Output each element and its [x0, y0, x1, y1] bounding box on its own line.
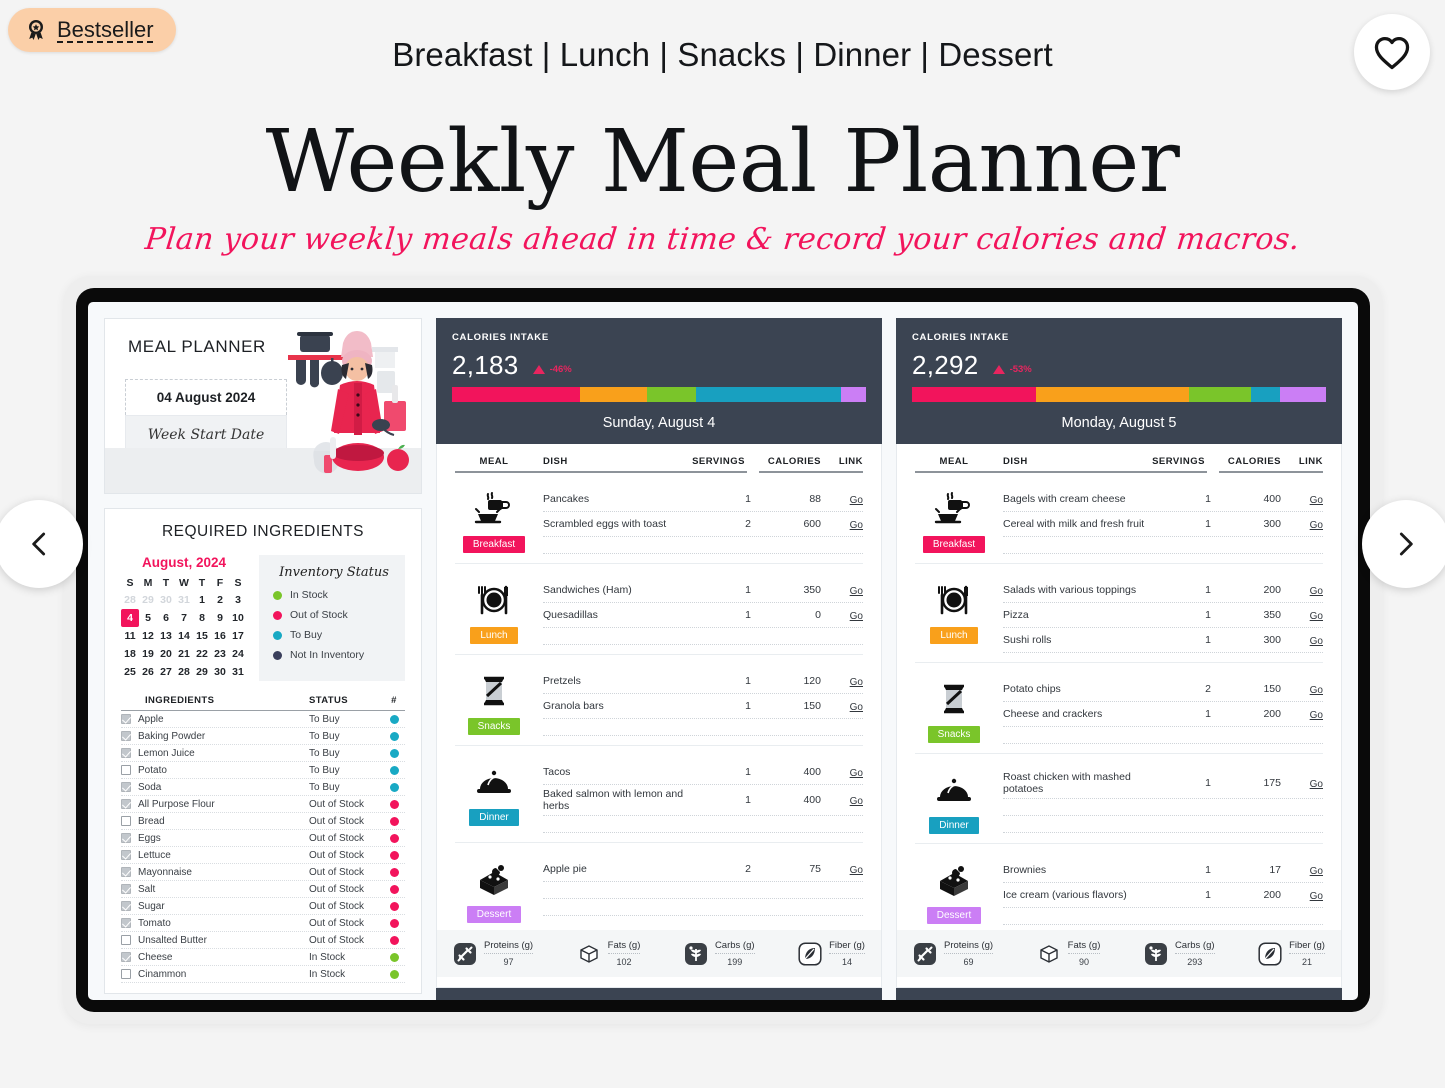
ingredient-name: Sugar	[138, 901, 165, 912]
col-ingredients: INGREDIENTS	[121, 695, 309, 706]
coffee-cup-icon	[474, 487, 514, 531]
ingredient-row: Bread Out of Stock	[121, 813, 405, 830]
dish-row[interactable]	[1003, 816, 1323, 833]
triangle-up-icon	[993, 365, 1005, 374]
inventory-legend: In Stock Out of Stock To Buy Not In Inve…	[273, 589, 395, 661]
dish-servings: 2	[685, 863, 751, 875]
dish-calories: 88	[765, 493, 821, 505]
dish-servings: 1	[1145, 584, 1211, 596]
calendar-day[interactable]: 7	[175, 609, 193, 627]
dish-row[interactable]	[543, 882, 863, 899]
dish-calories: 350	[765, 584, 821, 596]
ingredient-checkbox[interactable]	[121, 901, 131, 911]
dish-link-cell[interactable]: Go	[1281, 606, 1323, 624]
page-title: Weekly Meal Planner	[0, 112, 1445, 212]
meal-tag: Dessert	[927, 907, 981, 924]
calendar-day[interactable]: 22	[193, 645, 211, 663]
dish-link-cell[interactable]: Go	[821, 697, 863, 715]
dish-link-cell[interactable]: Go	[821, 515, 863, 533]
calendar-day[interactable]: 16	[211, 627, 229, 645]
dish-link-cell[interactable]: Go	[821, 763, 863, 781]
dish-calories: 200	[1225, 889, 1281, 901]
meal-tag: Snacks	[928, 726, 981, 743]
day-body: MEAL DISH SERVINGS CALORIES LINK Breakfa…	[436, 444, 882, 988]
status-dot-icon	[390, 749, 399, 758]
ingredient-checkbox[interactable]	[121, 731, 131, 741]
macro-value: 90	[1068, 957, 1101, 967]
calendar-day[interactable]: 31	[175, 591, 193, 609]
calendar-day[interactable]: 28	[175, 663, 193, 681]
calendar-day[interactable]: 17	[229, 627, 247, 645]
calendar-day[interactable]: 2	[211, 591, 229, 609]
col-servings: SERVINGS	[669, 456, 745, 467]
calendar-day[interactable]: 24	[229, 645, 247, 663]
dish-row[interactable]: Baked salmon with lemon and herbs 1 400 …	[543, 785, 863, 816]
calendar-weekday: T	[193, 575, 211, 591]
dish-row[interactable]: Granola bars 1 150 Go	[543, 694, 863, 719]
dish-servings: 1	[1145, 518, 1211, 530]
meal-block: Lunch Salads with various toppings 1 200…	[915, 564, 1323, 653]
dish-link-cell[interactable]: Go	[1281, 490, 1323, 508]
day-panels: CALORIES INTAKE 2,183 -46% Sunday, Augus…	[436, 318, 1342, 1000]
dish-row[interactable]: Pizza 1 350 Go	[1003, 603, 1323, 628]
calendar-days[interactable]: 2829303112345678910111213141516171819202…	[121, 591, 247, 681]
meal-tag: Dessert	[467, 906, 521, 923]
status-dot-icon	[390, 715, 399, 724]
status-dot-icon	[390, 885, 399, 894]
dish-name: Brownies	[1003, 864, 1145, 876]
macro-fats: Fats (g) 90	[1037, 940, 1101, 967]
required-ingredients-card: REQUIRED INGREDIENTS August, 2024 SMTWTF…	[104, 508, 422, 994]
dish-name: Ice cream (various flavors)	[1003, 889, 1145, 901]
dish-link[interactable]: Go	[850, 865, 863, 876]
dish-link-cell[interactable]: Go	[821, 672, 863, 690]
macro-summary: Proteins (g) 69 Fats (g) 90 Carbs (g	[897, 930, 1341, 977]
calendar-day[interactable]: 4	[121, 609, 139, 627]
dish-link-cell[interactable]: Go	[1281, 861, 1323, 879]
calendar-day[interactable]: 14	[175, 627, 193, 645]
dish-row[interactable]: Cereal with milk and fresh fruit 1 300 G…	[1003, 512, 1323, 537]
dish-row[interactable]: Quesadillas 1 0 Go	[543, 603, 863, 628]
dish-link-cell[interactable]: Go	[1281, 515, 1323, 533]
dish-row[interactable]: Scrambled eggs with toast 2 600 Go	[543, 512, 863, 537]
calendar-day[interactable]: 1	[193, 591, 211, 609]
calendar-weekday: T	[157, 575, 175, 591]
dish-row[interactable]: Cheese and crackers 1 200 Go	[1003, 702, 1323, 727]
ingredient-name: Apple	[138, 714, 164, 725]
calendar-day[interactable]: 20	[157, 645, 175, 663]
meal-block: Dinner Tacos 1 400 Go Baked salmon	[455, 746, 863, 833]
ingredient-row: Potato To Buy	[121, 762, 405, 779]
inventory-legend-label: Out of Stock	[290, 609, 348, 621]
inventory-legend-label: Not In Inventory	[290, 649, 364, 661]
ingredient-checkbox[interactable]	[121, 935, 131, 945]
day-footer-bar	[896, 988, 1342, 1000]
dish-link-cell[interactable]: Go	[1281, 581, 1323, 599]
calendar-day[interactable]: 11	[121, 627, 139, 645]
carbs-icon	[684, 942, 708, 966]
meal-block: Breakfast Pancakes 1 88 Go Scramble	[455, 473, 863, 554]
week-start-box: 04 August 2024 Week Start Date	[125, 379, 249, 455]
dish-row[interactable]	[1003, 799, 1323, 816]
calendar-day[interactable]: 29	[139, 591, 157, 609]
day-panel: CALORIES INTAKE 2,292 -53% Monday, Augus…	[896, 318, 1342, 1000]
calendar-day[interactable]: 9	[211, 609, 229, 627]
dish-row[interactable]	[543, 899, 863, 916]
dish-link[interactable]: Go	[1310, 520, 1323, 531]
ingredient-row: Soda To Buy	[121, 779, 405, 796]
meal-tag: Lunch	[470, 627, 517, 644]
macro-label: Fats (g)	[608, 940, 641, 954]
ingredient-checkbox[interactable]	[121, 816, 131, 826]
inventory-legend-item: To Buy	[273, 629, 395, 641]
col-status: STATUS	[309, 695, 383, 706]
status-dot-icon	[390, 919, 399, 928]
col-dish: DISH	[993, 456, 1129, 467]
dish-name: Pretzels	[543, 675, 685, 687]
dish-row[interactable]	[1003, 727, 1323, 744]
dish-row[interactable]	[543, 537, 863, 554]
dish-link[interactable]: Go	[1310, 685, 1323, 696]
macro-distribution-bar	[452, 387, 866, 402]
meal-tag: Lunch	[930, 627, 977, 644]
calendar-day[interactable]: 12	[139, 627, 157, 645]
macro-bar-segment	[452, 387, 580, 402]
col-meal: MEAL	[455, 456, 533, 467]
day-footer-bar	[436, 988, 882, 1000]
dish-row[interactable]	[543, 816, 863, 833]
status-dot-icon	[273, 611, 282, 620]
dish-link[interactable]: Go	[850, 796, 863, 807]
dish-link-cell[interactable]: Go	[1281, 886, 1323, 904]
ingredient-name: Unsalted Butter	[138, 935, 207, 946]
dish-link-cell[interactable]: Go	[821, 490, 863, 508]
col-hash: #	[383, 695, 405, 706]
dish-calories: 350	[1225, 609, 1281, 621]
inventory-status-title: Inventory Status	[273, 565, 395, 580]
ingredients-table-header: INGREDIENTS STATUS #	[121, 695, 405, 711]
calendar: August, 2024 SMTWTFS 2829303112345678910…	[121, 555, 247, 681]
meal-tag: Dinner	[469, 809, 518, 826]
dish-link-cell[interactable]: Go	[1281, 774, 1323, 792]
dish-link[interactable]: Go	[850, 586, 863, 597]
dish-link[interactable]: Go	[850, 768, 863, 779]
calendar-day[interactable]: 18	[121, 645, 139, 663]
dish-row[interactable]	[543, 719, 863, 736]
dish-servings: 1	[1145, 889, 1211, 901]
dish-link[interactable]: Go	[850, 677, 863, 688]
dish-name: Bagels with cream cheese	[1003, 493, 1145, 505]
dish-calories: 120	[765, 675, 821, 687]
dish-servings: 1	[1145, 708, 1211, 720]
table-rule	[455, 471, 863, 473]
carbs-icon	[1144, 942, 1168, 966]
ingredient-checkbox[interactable]	[121, 884, 131, 894]
dish-row[interactable]: Potato chips 2 150 Go	[1003, 677, 1323, 702]
ingredient-checkbox[interactable]	[121, 714, 131, 724]
calendar-day[interactable]: 27	[157, 663, 175, 681]
dish-calories: 300	[1225, 634, 1281, 646]
dish-link-cell[interactable]: Go	[821, 860, 863, 878]
macro-bar-segment	[696, 387, 841, 402]
status-dot-icon	[273, 631, 282, 640]
carousel-next-button[interactable]	[1362, 500, 1445, 588]
ingredient-status: To Buy	[309, 731, 383, 742]
dish-link[interactable]: Go	[1310, 710, 1323, 721]
dish-link-cell[interactable]: Go	[821, 606, 863, 624]
calendar-day[interactable]: 3	[229, 591, 247, 609]
calories-intake-label: CALORIES INTAKE	[452, 332, 866, 343]
tablet-bezel: MEAL PLANNER 04 August 2024 Week Start D…	[76, 288, 1370, 1012]
ingredient-status: Out of Stock	[309, 833, 383, 844]
calendar-day[interactable]: 29	[193, 663, 211, 681]
dish-row[interactable]: Pretzels 1 120 Go	[543, 669, 863, 694]
status-dot-icon	[390, 902, 399, 911]
ingredient-name: Cinammon	[138, 969, 186, 980]
dish-servings: 1	[685, 700, 751, 712]
calendar-grid[interactable]: SMTWTFS 28293031123456789101112131415161…	[121, 575, 247, 681]
ingredient-row: Sugar Out of Stock	[121, 898, 405, 915]
dish-name: Pancakes	[543, 493, 685, 505]
ingredient-checkbox[interactable]	[121, 748, 131, 758]
dish-servings: 1	[685, 609, 751, 621]
ingredient-name: All Purpose Flour	[138, 799, 215, 810]
status-dot-icon	[390, 800, 399, 809]
macro-bar-segment	[1280, 387, 1326, 402]
calendar-day[interactable]: 6	[157, 609, 175, 627]
status-dot-icon	[390, 766, 399, 775]
dish-calories: 200	[1225, 708, 1281, 720]
ingredient-name: Cheese	[138, 952, 172, 963]
dish-link[interactable]: Go	[850, 520, 863, 531]
fats-icon	[577, 942, 601, 966]
macro-distribution-bar	[912, 387, 1326, 402]
calendar-day[interactable]: 8	[193, 609, 211, 627]
status-dot-icon	[390, 936, 399, 945]
calendar-day[interactable]: 30	[157, 591, 175, 609]
calendar-day[interactable]: 30	[211, 663, 229, 681]
ingredient-status: Out of Stock	[309, 867, 383, 878]
macro-summary: Proteins (g) 97 Fats (g) 102 Carbs (	[437, 930, 881, 977]
ingredient-checkbox[interactable]	[121, 850, 131, 860]
dish-name: Quesadillas	[543, 609, 685, 621]
ingredient-checkbox[interactable]	[121, 918, 131, 928]
dish-link-cell[interactable]: Go	[1281, 631, 1323, 649]
ingredient-checkbox[interactable]	[121, 782, 131, 792]
dish-row[interactable]	[543, 628, 863, 645]
dish-servings: 1	[685, 766, 751, 778]
dish-link-cell[interactable]: Go	[821, 581, 863, 599]
dish-link[interactable]: Go	[850, 495, 863, 506]
calendar-weekday: F	[211, 575, 229, 591]
macro-carbs: Carbs (g) 293	[1144, 940, 1215, 967]
ingredient-row: Lettuce Out of Stock	[121, 847, 405, 864]
calendar-week-row: 18192021222324	[121, 645, 247, 663]
calendar-day[interactable]: 13	[157, 627, 175, 645]
dish-calories: 0	[765, 609, 821, 621]
dish-row[interactable]: Bagels with cream cheese 1 400 Go	[1003, 487, 1323, 512]
calendar-day[interactable]: 23	[211, 645, 229, 663]
macro-fiber: Fiber (g) 21	[1258, 940, 1325, 967]
ingredient-row: Salt Out of Stock	[121, 881, 405, 898]
dish-name: Tacos	[543, 766, 685, 778]
macro-bar-segment	[841, 387, 866, 402]
calories-intake-label: CALORIES INTAKE	[912, 332, 1326, 343]
ingredient-checkbox[interactable]	[121, 765, 131, 775]
macro-bar-segment	[1036, 387, 1189, 402]
meal-planner-title: MEAL PLANNER	[128, 337, 266, 357]
calendar-month-label: August, 2024	[121, 555, 247, 570]
favorite-button[interactable]	[1354, 14, 1430, 90]
ingredient-row: Cheese In Stock	[121, 949, 405, 966]
macro-label: Carbs (g)	[715, 940, 755, 954]
status-dot-icon	[390, 783, 399, 792]
dish-name: Pizza	[1003, 609, 1145, 621]
proteins-icon	[453, 942, 477, 966]
page-subtitle: Plan your weekly meals ahead in time & r…	[0, 222, 1445, 257]
ingredient-checkbox[interactable]	[121, 799, 131, 809]
ingredient-checkbox[interactable]	[121, 867, 131, 877]
macro-proteins: Proteins (g) 97	[453, 940, 533, 967]
dish-servings: 2	[685, 518, 751, 530]
dish-link[interactable]: Go	[1310, 611, 1323, 622]
dish-name: Apple pie	[543, 863, 685, 875]
dish-servings: 1	[1145, 634, 1211, 646]
macro-bar-segment	[912, 387, 1036, 402]
dish-row[interactable]: Pancakes 1 88 Go	[543, 487, 863, 512]
macro-value: 14	[829, 957, 865, 967]
macro-value: 97	[484, 957, 533, 967]
ingredient-name: Potato	[138, 765, 167, 776]
calendar-day[interactable]: 10	[229, 609, 247, 627]
dish-link[interactable]: Go	[850, 702, 863, 713]
dish-link[interactable]: Go	[850, 611, 863, 622]
meal-tag: Dinner	[929, 817, 978, 834]
calendar-week-row: 28293031123	[121, 591, 247, 609]
ingredient-name: Lettuce	[138, 850, 171, 861]
col-link: LINK	[1281, 456, 1323, 467]
dish-servings: 1	[1145, 493, 1211, 505]
calendar-day[interactable]: 19	[139, 645, 157, 663]
dish-link-cell[interactable]: Go	[1281, 705, 1323, 723]
dish-calories: 400	[1225, 493, 1281, 505]
meal-tag: Breakfast	[463, 536, 525, 553]
calendar-day[interactable]: 28	[121, 591, 139, 609]
dish-row[interactable]: Tacos 1 400 Go	[543, 760, 863, 785]
ingredient-status: To Buy	[309, 765, 383, 776]
macro-label: Proteins (g)	[484, 940, 533, 954]
dish-link-cell[interactable]: Go	[1281, 680, 1323, 698]
dish-link[interactable]: Go	[1310, 779, 1323, 790]
meal-block: Breakfast Bagels with cream cheese 1 400…	[915, 473, 1323, 554]
inventory-legend-label: To Buy	[290, 629, 322, 641]
calendar-weekday: M	[139, 575, 157, 591]
macro-bar-segment	[1189, 387, 1251, 402]
cake-slice-icon	[934, 858, 974, 902]
ingredient-status: Out of Stock	[309, 850, 383, 861]
ingredient-checkbox[interactable]	[121, 969, 131, 979]
dish-row[interactable]: Salads with various toppings 1 200 Go	[1003, 578, 1323, 603]
dish-link[interactable]: Go	[1310, 636, 1323, 647]
dish-name: Scrambled eggs with toast	[543, 518, 685, 530]
calendar-weekday: S	[121, 575, 139, 591]
macro-fiber: Fiber (g) 14	[798, 940, 865, 967]
macro-proteins: Proteins (g) 69	[913, 940, 993, 967]
calendar-day[interactable]: 5	[139, 609, 157, 627]
calendar-week-row: 25262728293031	[121, 663, 247, 681]
dish-name: Cheese and crackers	[1003, 708, 1145, 720]
calories-delta-value: -53%	[1010, 364, 1032, 375]
dish-servings: 1	[685, 493, 751, 505]
dish-row[interactable]	[1003, 908, 1323, 925]
status-dot-icon	[390, 868, 399, 877]
dish-link[interactable]: Go	[1310, 891, 1323, 902]
ingredient-name: Mayonnaise	[138, 867, 192, 878]
dish-row[interactable]: Roast chicken with mashed potatoes 1 175…	[1003, 768, 1323, 799]
inventory-legend-item: Out of Stock	[273, 609, 395, 621]
ingredient-checkbox[interactable]	[121, 952, 131, 962]
macro-bar-segment	[580, 387, 646, 402]
calendar-weekday-row: SMTWTFS	[121, 575, 247, 591]
calendar-day[interactable]: 21	[175, 645, 193, 663]
dish-link[interactable]: Go	[1310, 586, 1323, 597]
calendar-weekday: S	[229, 575, 247, 591]
macro-value: 102	[608, 957, 641, 967]
calendar-day[interactable]: 25	[121, 663, 139, 681]
dish-calories: 17	[1225, 864, 1281, 876]
dish-row[interactable]: Sandwiches (Ham) 1 350 Go	[543, 578, 863, 603]
ingredient-row: Unsalted Butter Out of Stock	[121, 932, 405, 949]
cloche-dome-icon	[474, 760, 514, 804]
ingredient-status: To Buy	[309, 782, 383, 793]
dish-link[interactable]: Go	[1310, 866, 1323, 877]
ingredient-status: To Buy	[309, 748, 383, 759]
col-servings: SERVINGS	[1129, 456, 1205, 467]
ingredient-checkbox[interactable]	[121, 833, 131, 843]
required-ingredients-title: REQUIRED INGREDIENTS	[121, 523, 405, 541]
macro-value: 21	[1289, 957, 1325, 967]
dish-link-cell[interactable]: Go	[821, 791, 863, 809]
dish-row[interactable]: Ice cream (various flavors) 1 200 Go	[1003, 883, 1323, 908]
calendar-day[interactable]: 15	[193, 627, 211, 645]
calendar-day[interactable]: 31	[229, 663, 247, 681]
calories-intake-value: 2,292	[912, 350, 979, 381]
col-dish: DISH	[533, 456, 669, 467]
calendar-day[interactable]: 26	[139, 663, 157, 681]
snack-bag-icon	[934, 677, 974, 721]
dish-row[interactable]	[1003, 537, 1323, 554]
ingredient-name: Eggs	[138, 833, 161, 844]
dish-row[interactable]: Sushi rolls 1 300 Go	[1003, 628, 1323, 653]
dish-name: Roast chicken with mashed potatoes	[1003, 771, 1145, 795]
dish-row[interactable]: Apple pie 2 75 Go	[543, 857, 863, 882]
coffee-cup-icon	[934, 487, 974, 531]
macro-label: Carbs (g)	[1175, 940, 1215, 954]
dish-row[interactable]: Brownies 1 17 Go	[1003, 858, 1323, 883]
ingredient-row: All Purpose Flour Out of Stock	[121, 796, 405, 813]
ingredient-status: Out of Stock	[309, 799, 383, 810]
dish-link[interactable]: Go	[1310, 495, 1323, 506]
dish-servings: 1	[685, 675, 751, 687]
heart-icon	[1372, 34, 1412, 70]
meal-table-header: MEAL DISH SERVINGS CALORIES LINK	[455, 456, 863, 471]
table-rule	[915, 471, 1323, 473]
meal-table-header: MEAL DISH SERVINGS CALORIES LINK	[915, 456, 1323, 471]
status-dot-icon	[390, 817, 399, 826]
ingredient-row: Lemon Juice To Buy	[121, 745, 405, 762]
week-start-value[interactable]: 04 August 2024	[125, 379, 287, 415]
macro-carbs: Carbs (g) 199	[684, 940, 755, 967]
